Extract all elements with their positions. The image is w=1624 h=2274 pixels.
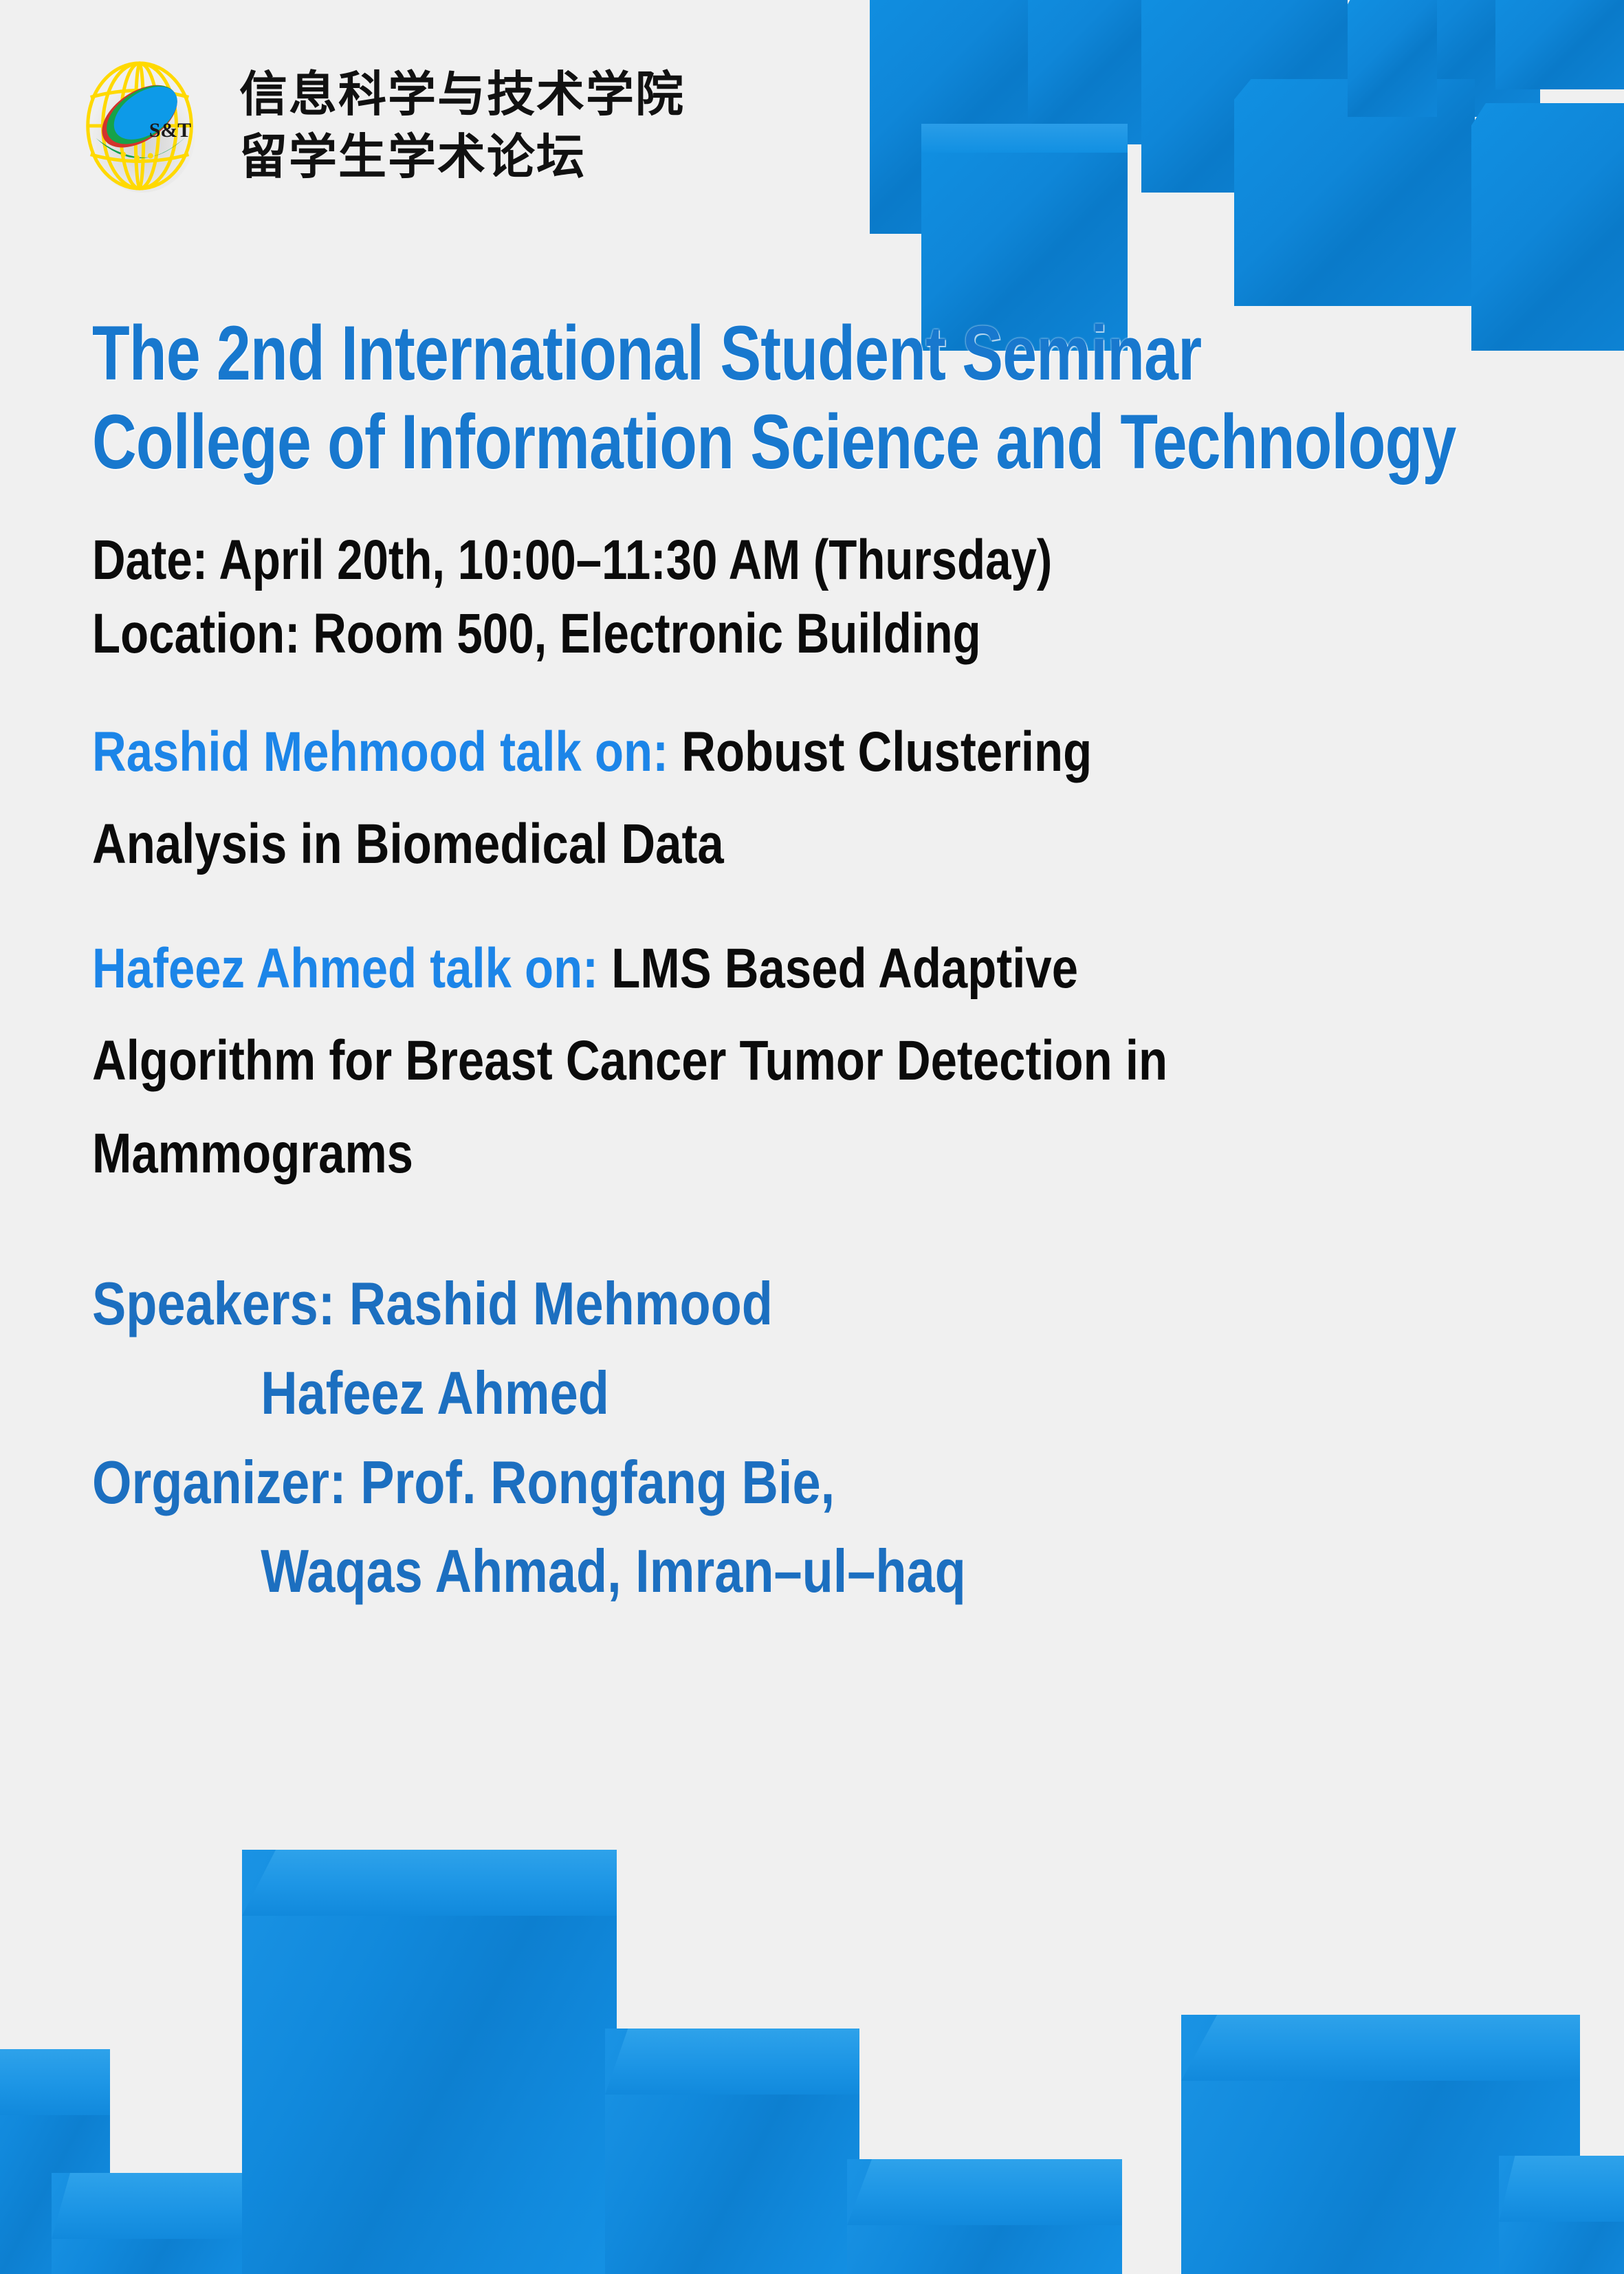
- talk-2-line-3: Mammograms: [92, 1111, 1536, 1197]
- poster-content: The 2nd International Student Seminar Co…: [92, 311, 1550, 1620]
- talk-1-line-1: Rashid Mehmood talk on: Robust Clusterin…: [92, 710, 1536, 796]
- talk-2-title-part-1: LMS Based Adaptive: [598, 937, 1078, 1000]
- event-details: Date: April 20th, 10:00–11:30 AM (Thursd…: [92, 524, 1550, 670]
- organization-name: 信息科学与技术学院 留学生学术论坛: [239, 63, 685, 188]
- org-line-2: 留学生学术论坛: [239, 126, 685, 188]
- organizer-line-2: Waqas Ahmad, Imran–ul–haq: [92, 1531, 1624, 1612]
- decor-block: [870, 0, 1028, 234]
- decor-block: [1028, 0, 1165, 144]
- talk-2-line-2: Algorithm for Breast Cancer Tumor Detect…: [92, 1018, 1536, 1104]
- talk-2-line-1: Hafeez Ahmed talk on: LMS Based Adaptive: [92, 926, 1536, 1012]
- speakers-line-1: Speakers: Rashid Mehmood: [92, 1263, 1536, 1344]
- decor-block: [1348, 0, 1437, 117]
- title-line-2: College of Information Science and Techn…: [92, 400, 1544, 484]
- poster-header: S&T 信息科学与技术学院 留学生学术论坛: [66, 51, 685, 201]
- decor-pylon: [605, 2029, 859, 2274]
- talk-1-line-2: Analysis in Biomedical Data: [92, 802, 1536, 888]
- decor-pylon: [242, 1850, 617, 2274]
- event-location: Location: Room 500, Electronic Building: [92, 598, 1535, 671]
- org-line-1: 信息科学与技术学院: [239, 63, 685, 126]
- talk-item: Rashid Mehmood talk on: Robust Clusterin…: [92, 710, 1550, 888]
- credits-block: Speakers: Rashid Mehmood Hafeez Ahmed Or…: [92, 1263, 1550, 1612]
- decor-block: [1375, 0, 1540, 117]
- decor-block: [1495, 0, 1624, 89]
- page-title: The 2nd International Student Seminar Co…: [92, 311, 1544, 484]
- talk-2-speaker-label: Hafeez Ahmed talk on:: [92, 937, 598, 1000]
- decor-pylon: [52, 2173, 258, 2274]
- talk-item: Hafeez Ahmed talk on: LMS Based Adaptive…: [92, 926, 1550, 1197]
- talk-1-title-part-1: Robust Clustering: [668, 721, 1092, 783]
- event-date: Date: April 20th, 10:00–11:30 AM (Thursd…: [92, 524, 1535, 598]
- logo-st-text: S&T: [149, 120, 191, 142]
- poster-canvas: S&T 信息科学与技术学院 留学生学术论坛 The 2nd Internatio…: [0, 0, 1624, 2274]
- decor-pylon: [0, 2049, 110, 2274]
- university-logo-icon: S&T: [66, 51, 216, 201]
- decor-block: [1234, 79, 1475, 306]
- organizer-line-1: Organizer: Prof. Rongfang Bie,: [92, 1442, 1536, 1523]
- decor-block: [1141, 0, 1348, 193]
- decor-pylon: [1181, 2015, 1580, 2274]
- title-line-1: The 2nd International Student Seminar: [92, 311, 1544, 395]
- speakers-line-2: Hafeez Ahmed: [92, 1353, 1624, 1434]
- decor-pylon: [1499, 2156, 1624, 2274]
- decor-pylon: [847, 2159, 1122, 2274]
- talk-1-speaker-label: Rashid Mehmood talk on:: [92, 721, 668, 783]
